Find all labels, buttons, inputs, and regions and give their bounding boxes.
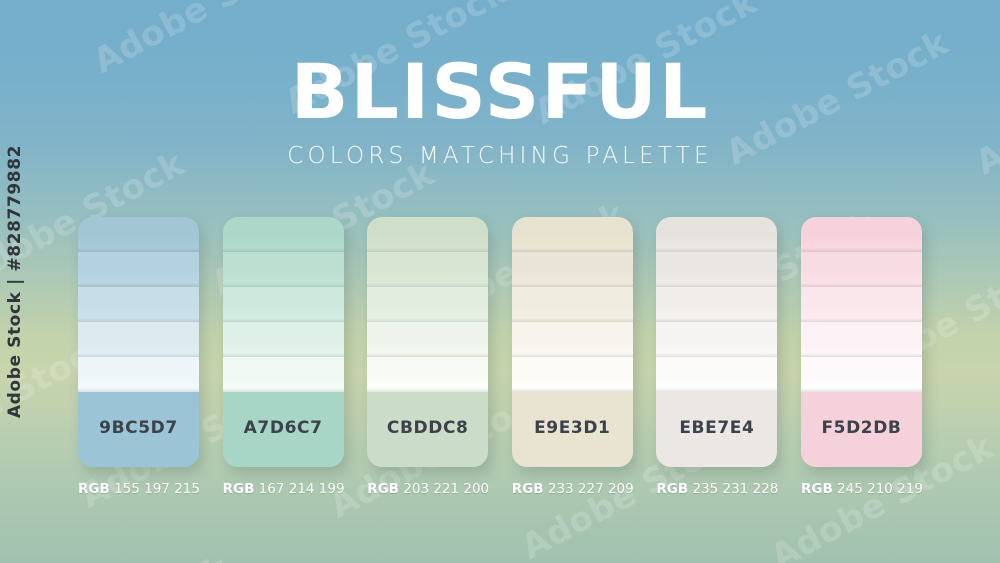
swatch-column: EBE7E4RGB 235 231 228 <box>656 217 777 497</box>
color-stripe[interactable] <box>512 322 633 357</box>
swatch-column: A7D6C7RGB 167 214 199 <box>223 217 344 497</box>
color-stripe[interactable] <box>367 287 488 322</box>
rgb-value-label: RGB 155 197 215 <box>78 481 199 497</box>
color-stripe[interactable] <box>367 217 488 252</box>
swatch-column: CBDDC8RGB 203 221 200 <box>367 217 488 497</box>
rgb-prefix: RGB <box>801 481 833 497</box>
color-stripe[interactable] <box>656 322 777 357</box>
rgb-prefix: RGB <box>223 481 255 497</box>
color-base-block[interactable]: CBDDC8 <box>367 392 488 467</box>
color-base-block[interactable]: A7D6C7 <box>223 392 344 467</box>
rgb-numbers: 235 231 228 <box>688 481 778 497</box>
rgb-numbers: 167 214 199 <box>254 481 344 497</box>
poster-header: BLISSFUL COLORS MATCHING PALETTE <box>0 56 1000 169</box>
color-stripe[interactable] <box>801 357 922 392</box>
color-stripe[interactable] <box>223 252 344 287</box>
color-base-block[interactable]: F5D2DB <box>801 392 922 467</box>
color-stripe[interactable] <box>223 287 344 322</box>
color-stripe[interactable] <box>223 322 344 357</box>
color-stripe[interactable] <box>801 287 922 322</box>
color-stripe[interactable] <box>367 322 488 357</box>
palette-poster: Adobe StockAdobe StockAdobe StockAdobe S… <box>0 0 1000 563</box>
rgb-value-label: RGB 245 210 219 <box>801 481 922 497</box>
color-stripe[interactable] <box>367 252 488 287</box>
color-base-block[interactable]: 9BC5D7 <box>78 392 199 467</box>
color-stripe[interactable] <box>78 287 199 322</box>
hex-code-label: EBE7E4 <box>679 418 754 438</box>
color-card[interactable]: F5D2DB <box>801 217 922 467</box>
hex-code-label: A7D6C7 <box>244 418 323 438</box>
rgb-prefix: RGB <box>367 481 399 497</box>
rgb-prefix: RGB <box>656 481 688 497</box>
color-stripe[interactable] <box>78 357 199 392</box>
swatch-column: F5D2DBRGB 245 210 219 <box>801 217 922 497</box>
rgb-numbers: 233 227 209 <box>544 481 634 497</box>
rgb-value-label: RGB 235 231 228 <box>656 481 777 497</box>
color-stripe[interactable] <box>223 357 344 392</box>
rgb-numbers: 203 221 200 <box>399 481 489 497</box>
color-base-block[interactable]: EBE7E4 <box>656 392 777 467</box>
swatch-column: 9BC5D7RGB 155 197 215 <box>78 217 199 497</box>
watermark-text: Adobe Stock <box>956 468 1000 563</box>
color-stripe[interactable] <box>656 357 777 392</box>
page-subtitle: COLORS MATCHING PALETTE <box>0 143 1000 169</box>
hex-code-label: E9E3D1 <box>534 418 610 438</box>
color-stripe[interactable] <box>78 217 199 252</box>
color-stripe[interactable] <box>656 252 777 287</box>
color-base-block[interactable]: E9E3D1 <box>512 392 633 467</box>
color-stripe[interactable] <box>656 217 777 252</box>
color-stripe[interactable] <box>78 252 199 287</box>
stock-credit: Adobe Stock | #828779882 <box>0 0 30 563</box>
palette-row: 9BC5D7RGB 155 197 215A7D6C7RGB 167 214 1… <box>78 217 922 497</box>
color-stripe[interactable] <box>223 217 344 252</box>
color-card[interactable]: CBDDC8 <box>367 217 488 467</box>
rgb-prefix: RGB <box>512 481 544 497</box>
color-stripe[interactable] <box>656 287 777 322</box>
watermark-text: Adobe Stock <box>1 548 237 563</box>
stock-credit-label: Adobe Stock | #828779882 <box>5 145 25 418</box>
page-title: BLISSFUL <box>0 56 1000 129</box>
color-card[interactable]: A7D6C7 <box>223 217 344 467</box>
rgb-value-label: RGB 233 227 209 <box>512 481 633 497</box>
watermark-row: Adobe StockAdobe StockAdobe StockAdobe S… <box>237 526 1000 563</box>
swatch-column: E9E3D1RGB 233 227 209 <box>512 217 633 497</box>
color-stripe[interactable] <box>78 322 199 357</box>
color-stripe[interactable] <box>801 322 922 357</box>
color-stripe[interactable] <box>801 217 922 252</box>
rgb-value-label: RGB 203 221 200 <box>367 481 488 497</box>
hex-code-label: CBDDC8 <box>387 418 469 438</box>
color-card[interactable]: E9E3D1 <box>512 217 633 467</box>
color-stripe[interactable] <box>512 217 633 252</box>
color-stripe[interactable] <box>367 357 488 392</box>
rgb-numbers: 155 197 215 <box>110 481 200 497</box>
color-card[interactable]: 9BC5D7 <box>78 217 199 467</box>
color-stripe[interactable] <box>512 287 633 322</box>
hex-code-label: 9BC5D7 <box>99 418 178 438</box>
color-card[interactable]: EBE7E4 <box>656 217 777 467</box>
color-stripe[interactable] <box>512 252 633 287</box>
rgb-numbers: 245 210 219 <box>833 481 923 497</box>
hex-code-label: F5D2DB <box>821 418 901 438</box>
rgb-value-label: RGB 167 214 199 <box>223 481 344 497</box>
color-stripe[interactable] <box>801 252 922 287</box>
rgb-prefix: RGB <box>78 481 110 497</box>
color-stripe[interactable] <box>512 357 633 392</box>
